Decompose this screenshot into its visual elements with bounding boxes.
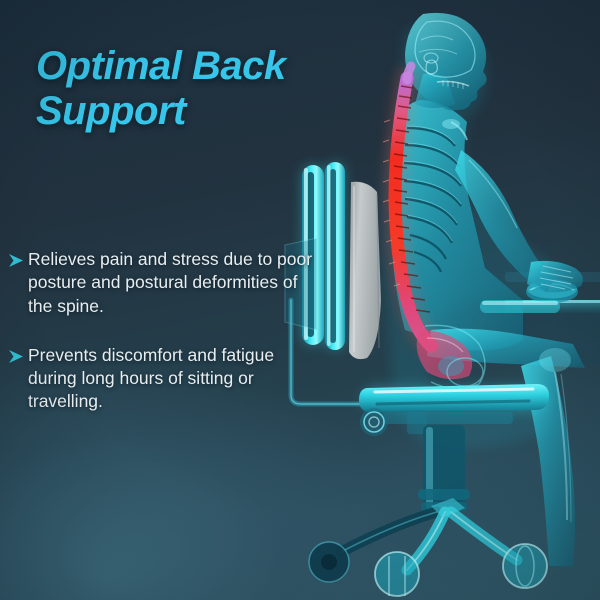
page-title: Optimal Back Support (36, 44, 316, 134)
benefits-list: Relieves pain and stress due to poor pos… (0, 248, 320, 440)
lumbar-cushion (349, 182, 381, 359)
chair-base (341, 498, 517, 570)
arrow-right-icon (8, 349, 25, 364)
list-item: Prevents discomfort and fatigue during l… (0, 344, 320, 414)
chair-armrest (480, 300, 560, 313)
text-column: Optimal Back Support Relieves pain and s… (0, 0, 320, 600)
arrow-right-icon (8, 253, 25, 268)
poster-canvas: Optimal Back Support Relieves pain and s… (0, 0, 600, 600)
list-item-text: Relieves pain and stress due to poor pos… (28, 248, 320, 318)
list-item: Relieves pain and stress due to poor pos… (0, 248, 320, 318)
list-item-text: Prevents discomfort and fatigue during l… (28, 344, 320, 414)
tilt-knob (360, 408, 388, 436)
hand (527, 261, 583, 293)
gas-cylinder (418, 425, 470, 511)
